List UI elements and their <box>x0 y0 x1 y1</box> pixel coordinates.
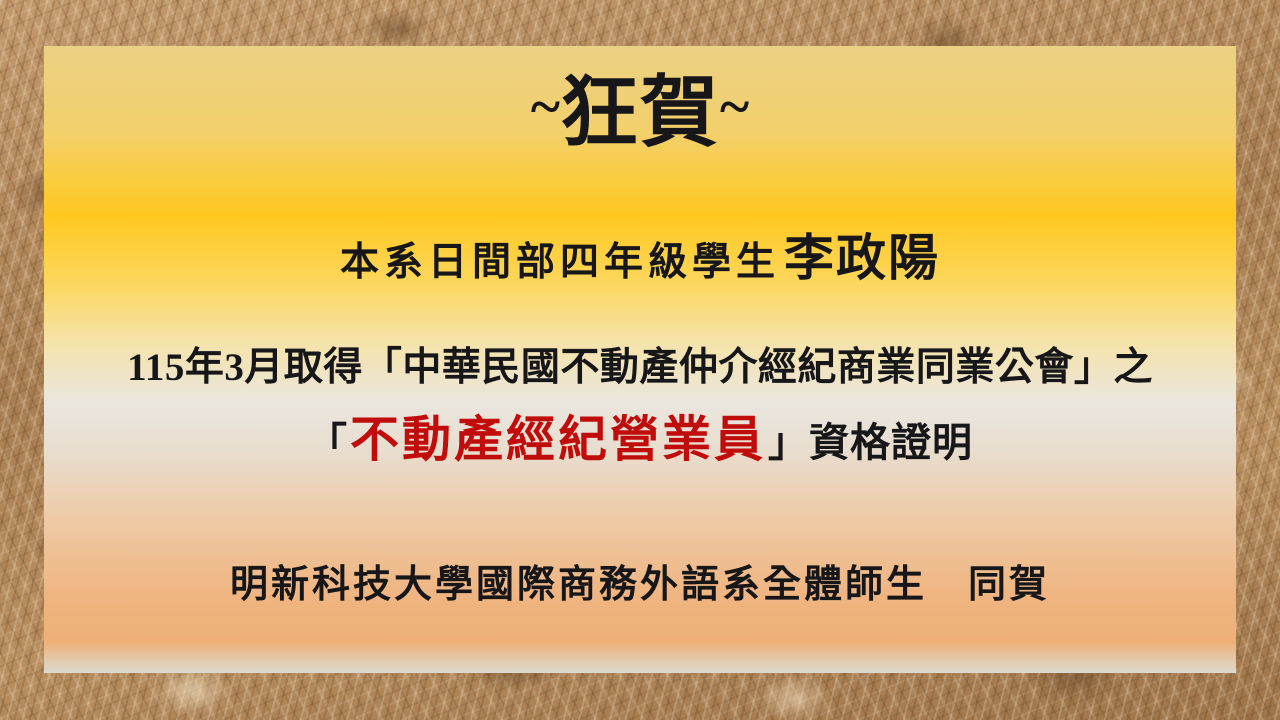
certification-suffix: 資格證明 <box>809 420 973 465</box>
cert-open-bracket: 「 <box>307 420 348 465</box>
tilde-right-decoration: ~ <box>720 78 749 137</box>
student-name: 李政陽 <box>784 230 940 286</box>
tilde-left-decoration: ~ <box>531 78 560 137</box>
signature-line: 明新科技大學國際商務外語系全體師生 同賀 <box>44 566 1236 606</box>
student-line: 本系日間部四年級學生李政陽 <box>44 232 1236 285</box>
headline-text: 狂賀 <box>560 69 720 156</box>
headline: ~狂賀~ <box>44 72 1236 154</box>
announcement-card: ~狂賀~ 本系日間部四年級學生李政陽 115年3月取得「中華民國不動產仲介經紀商… <box>44 46 1236 673</box>
certification-title-line: 「不動產經紀營業員」資格證明 <box>44 414 1236 465</box>
certification-highlight-text: 不動產經紀營業員 <box>350 412 766 467</box>
certification-organization-line: 115年3月取得「中華民國不動產仲介經紀商業同業公會」之 <box>44 348 1236 389</box>
student-line-prefix: 本系日間部四年級學生 <box>340 241 780 284</box>
cert-close-bracket: 」 <box>768 420 809 465</box>
